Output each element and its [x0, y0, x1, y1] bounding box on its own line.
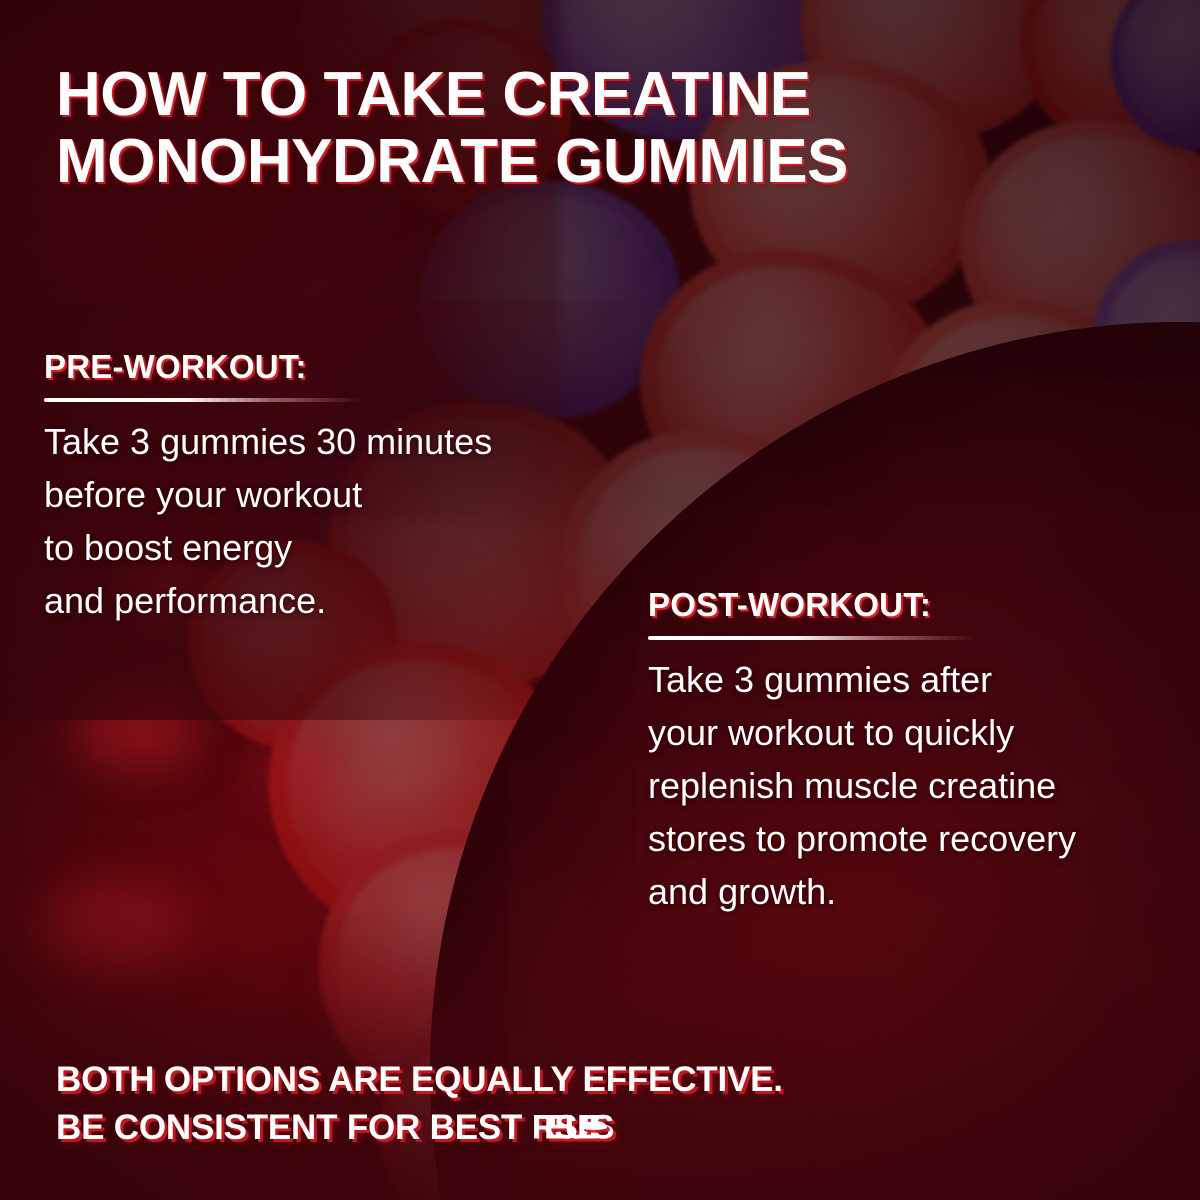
section-underline-post-workout	[648, 636, 978, 640]
footer-glitched-word: RESULTS	[532, 1105, 602, 1152]
section-body-post-workout: Take 3 gummies after your workout to qui…	[648, 654, 1178, 919]
body-line: and performance.	[44, 575, 634, 628]
headline-line-1: HOW TO TAKE CREATINE	[56, 62, 1056, 129]
section-post-workout: POST-WORKOUT: Take 3 gummies after your …	[648, 586, 1178, 919]
body-line: to boost energy	[44, 522, 634, 575]
body-line: your workout to quickly	[648, 707, 1178, 760]
section-body-pre-workout: Take 3 gummies 30 minutes before your wo…	[44, 416, 634, 628]
body-line: and growth.	[648, 866, 1178, 919]
headline-line-2: MONOHYDRATE GUMMIES	[56, 129, 1056, 196]
page-title: HOW TO TAKE CREATINE MONOHYDRATE GUMMIES	[56, 62, 1056, 196]
body-line: before your workout	[44, 469, 634, 522]
body-line: Take 3 gummies 30 minutes	[44, 416, 634, 469]
body-line: Take 3 gummies after	[648, 654, 1178, 707]
body-line: stores to promote recovery	[648, 813, 1178, 866]
body-line: replenish muscle creatine	[648, 760, 1178, 813]
section-pre-workout: PRE-WORKOUT: Take 3 gummies 30 minutes b…	[44, 348, 634, 628]
footer-line-1: BOTH OPTIONS ARE EQUALLY EFFECTIVE.	[56, 1056, 1156, 1104]
footer-callout: BOTH OPTIONS ARE EQUALLY EFFECTIVE. BE C…	[56, 1056, 1156, 1153]
section-underline-pre-workout	[44, 398, 362, 402]
footer-line-2: BE CONSISTENT FOR BEST RESULTS	[56, 1104, 1156, 1152]
section-title-post-workout: POST-WORKOUT:	[648, 586, 1178, 624]
content-layer: HOW TO TAKE CREATINE MONOHYDRATE GUMMIES…	[0, 0, 1200, 1200]
section-title-pre-workout: PRE-WORKOUT:	[44, 348, 634, 386]
infographic-poster: HOW TO TAKE CREATINE MONOHYDRATE GUMMIES…	[0, 0, 1200, 1200]
footer-line-2-prefix: BE CONSISTENT FOR BEST	[56, 1108, 532, 1147]
